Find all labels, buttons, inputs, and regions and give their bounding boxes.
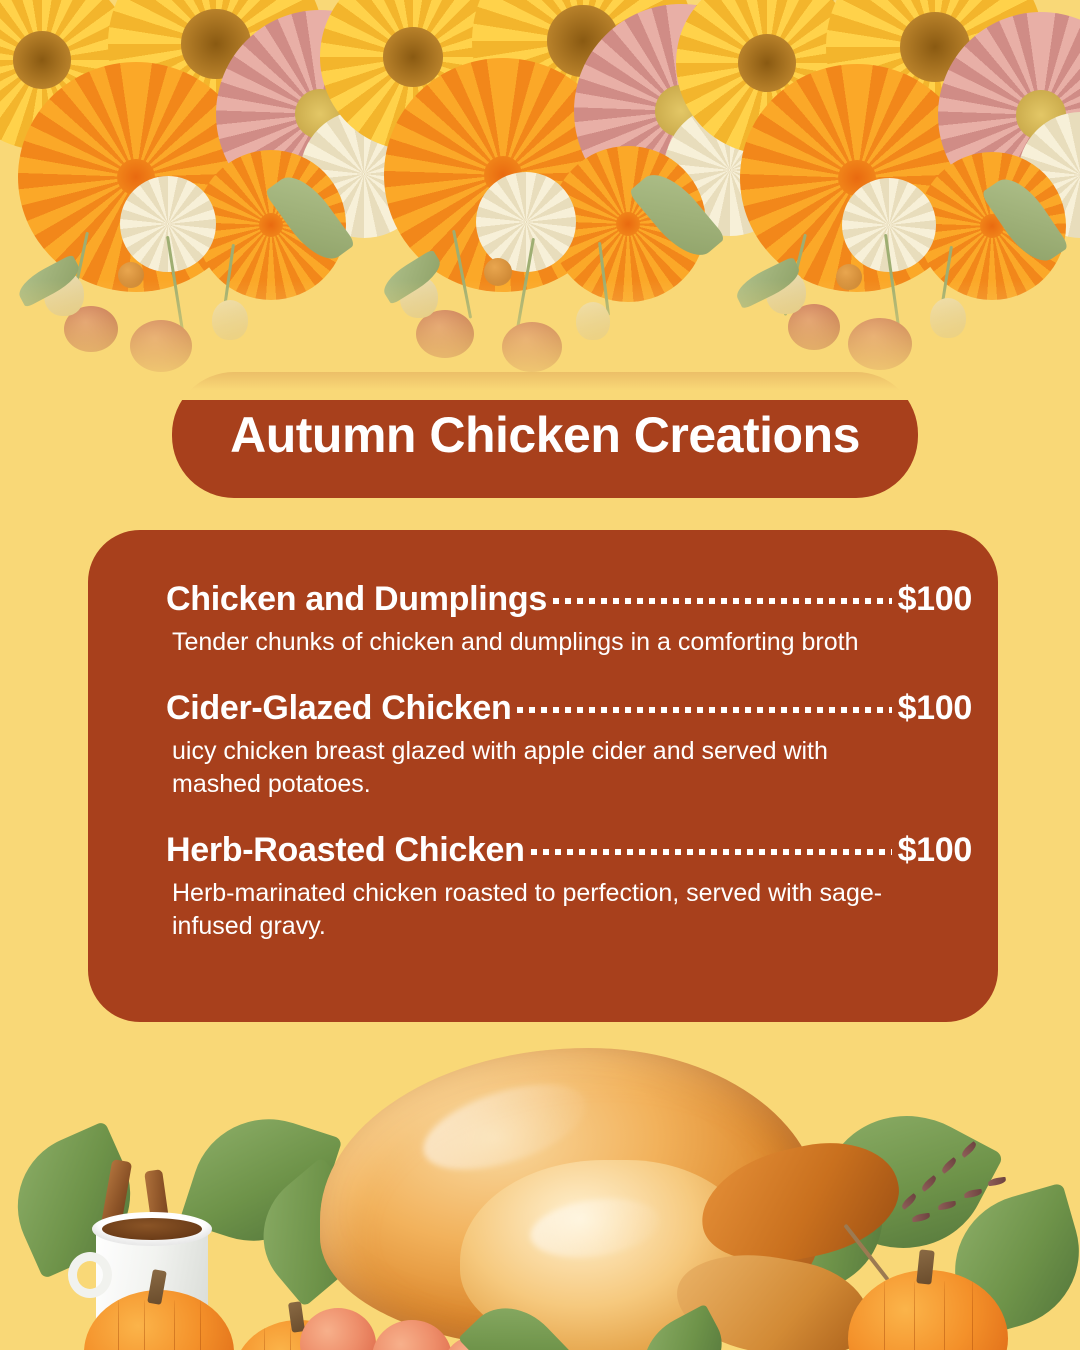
menu-item-name: Herb-Roasted Chicken bbox=[166, 831, 525, 870]
leaf-decoration bbox=[629, 1304, 737, 1350]
pumpkin bbox=[84, 1290, 234, 1350]
menu-item: Cider-Glazed Chicken $100 uicy chicken b… bbox=[140, 685, 946, 801]
turkey-wing bbox=[669, 1242, 879, 1350]
turkey-highlight bbox=[413, 1067, 596, 1186]
menu-item-price: $100 bbox=[898, 580, 972, 619]
gravy-jug-rim bbox=[92, 1212, 212, 1246]
title-banner: Autumn Chicken Creations bbox=[172, 372, 918, 498]
menu-item-price: $100 bbox=[898, 831, 972, 870]
apple bbox=[300, 1308, 376, 1350]
leaf-decoration bbox=[237, 1157, 388, 1307]
gravy-jug bbox=[96, 1222, 208, 1350]
pumpkin bbox=[234, 1320, 364, 1350]
menu-item-head: Chicken and Dumplings $100 bbox=[166, 576, 972, 619]
floral-tile bbox=[360, 0, 720, 400]
menu-item-description: Herb-marinated chicken roasted to perfec… bbox=[172, 877, 907, 943]
dot-leader bbox=[517, 685, 891, 719]
roast-turkey-body bbox=[320, 1048, 820, 1348]
floral-tile bbox=[720, 0, 1080, 400]
turkey-highlight bbox=[527, 1191, 664, 1265]
gravy bbox=[102, 1218, 202, 1240]
menu-poster: Autumn Chicken Creations Chicken and Dum… bbox=[0, 0, 1080, 1350]
menu-item-name: Chicken and Dumplings bbox=[166, 580, 547, 619]
dot-leader bbox=[531, 827, 892, 861]
cinnamon-stick bbox=[144, 1169, 174, 1257]
pumpkin bbox=[848, 1270, 1008, 1350]
floral-band-decoration bbox=[0, 0, 1080, 400]
leaf-decoration bbox=[179, 1099, 342, 1261]
page-title: Autumn Chicken Creations bbox=[230, 406, 860, 464]
menu-card: Chicken and Dumplings $100 Tender chunks… bbox=[88, 530, 998, 1022]
menu-item-description: uicy chicken breast glazed with apple ci… bbox=[172, 735, 907, 801]
dot-leader bbox=[553, 576, 892, 610]
menu-item-price: $100 bbox=[898, 689, 972, 728]
menu-item-head: Herb-Roasted Chicken $100 bbox=[166, 827, 972, 870]
turkey-illustration bbox=[0, 1020, 1080, 1350]
apple bbox=[444, 1336, 506, 1350]
leaf-decoration bbox=[0, 1121, 153, 1279]
menu-item-description: Tender chunks of chicken and dumplings i… bbox=[172, 626, 907, 659]
cinnamon-stick bbox=[96, 1159, 132, 1257]
roast-turkey-breast bbox=[460, 1160, 760, 1350]
floral-tile bbox=[0, 0, 360, 400]
leaf-decoration bbox=[937, 1183, 1080, 1340]
leaf-decoration bbox=[749, 1146, 908, 1303]
menu-item-head: Cider-Glazed Chicken $100 bbox=[166, 685, 972, 728]
wheat-sprig bbox=[886, 1140, 1036, 1260]
menu-item-name: Cider-Glazed Chicken bbox=[166, 689, 511, 728]
leaf-decoration bbox=[806, 1085, 1004, 1279]
leaf-decoration bbox=[458, 1289, 572, 1350]
menu-item: Chicken and Dumplings $100 Tender chunks… bbox=[140, 576, 946, 659]
turkey-drumstick bbox=[691, 1128, 909, 1277]
apple bbox=[372, 1320, 452, 1350]
gravy-jug-handle bbox=[68, 1252, 112, 1298]
menu-item: Herb-Roasted Chicken $100 Herb-marinated… bbox=[140, 827, 946, 943]
